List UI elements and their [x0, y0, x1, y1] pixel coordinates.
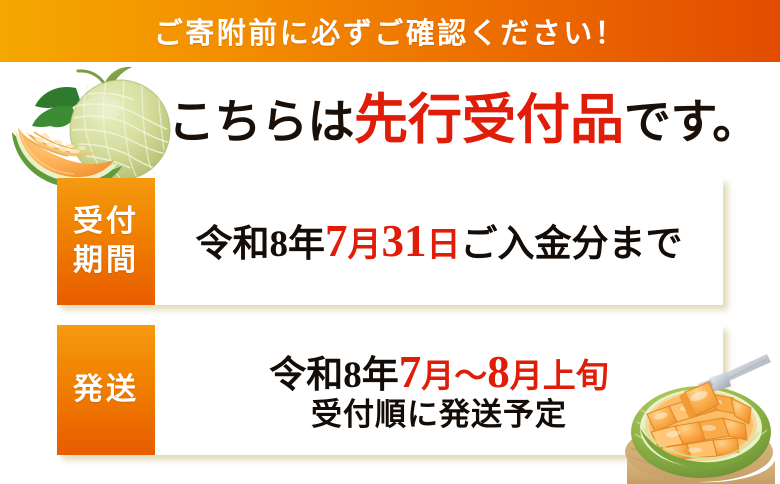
shipping-month-start-unit: 月～ [421, 347, 487, 397]
header-notice-text: ご寄附前に必ずご確認ください！ [154, 10, 627, 52]
period-month-number: 7 [325, 216, 348, 266]
shipping-month-start-number: 7 [399, 347, 422, 397]
period-day-unit: 日 [427, 216, 461, 266]
row-label-shipping: 発送 [57, 325, 155, 455]
heading-suffix: です。 [624, 97, 759, 149]
info-row-application-period: 受付 期間 令和8年7月31日ご入金分まで [57, 178, 723, 305]
row-label-application-period: 受付 期間 [57, 178, 155, 305]
period-day-number: 31 [382, 216, 427, 266]
period-suffix: ご入金分まで [461, 224, 683, 265]
shipping-prefix: 令和8年 [269, 355, 399, 396]
row-body-application-period: 令和8年7月31日ご入金分まで [155, 178, 723, 305]
heading-emphasis: 先行受付品 [354, 90, 624, 150]
shipping-period-text: 令和8年7月～8月上旬 [269, 349, 609, 396]
page-title: こちらは先行受付品です。 [168, 93, 759, 147]
row-label-line-1: 受付 [73, 203, 139, 241]
application-period-text: 令和8年7月31日ご入金分まで [196, 218, 683, 265]
melon-whole-with-wedge-photo [8, 58, 176, 194]
heading-prefix: こちらは [168, 97, 354, 149]
row-body-shipping: 令和8年7月～8月上旬 受付順に発送予定 [155, 325, 723, 455]
period-month-unit: 月 [348, 216, 382, 266]
info-row-shipping: 発送 令和8年7月～8月上旬 受付順に発送予定 [57, 325, 723, 455]
period-prefix: 令和8年 [196, 224, 326, 265]
row-label-line-1: 発送 [73, 371, 139, 409]
shipping-month-end-unit: 月上旬 [510, 347, 609, 397]
campaign-notice-banner: ご寄附前に必ずご確認ください！ [0, 0, 780, 484]
header-notice-bar: ご寄附前に必ずご確認ください！ [0, 0, 780, 62]
row-label-line-2: 期間 [73, 242, 139, 280]
shipping-month-end-number: 8 [487, 347, 510, 397]
shipping-order-note: 受付順に発送予定 [311, 399, 567, 432]
